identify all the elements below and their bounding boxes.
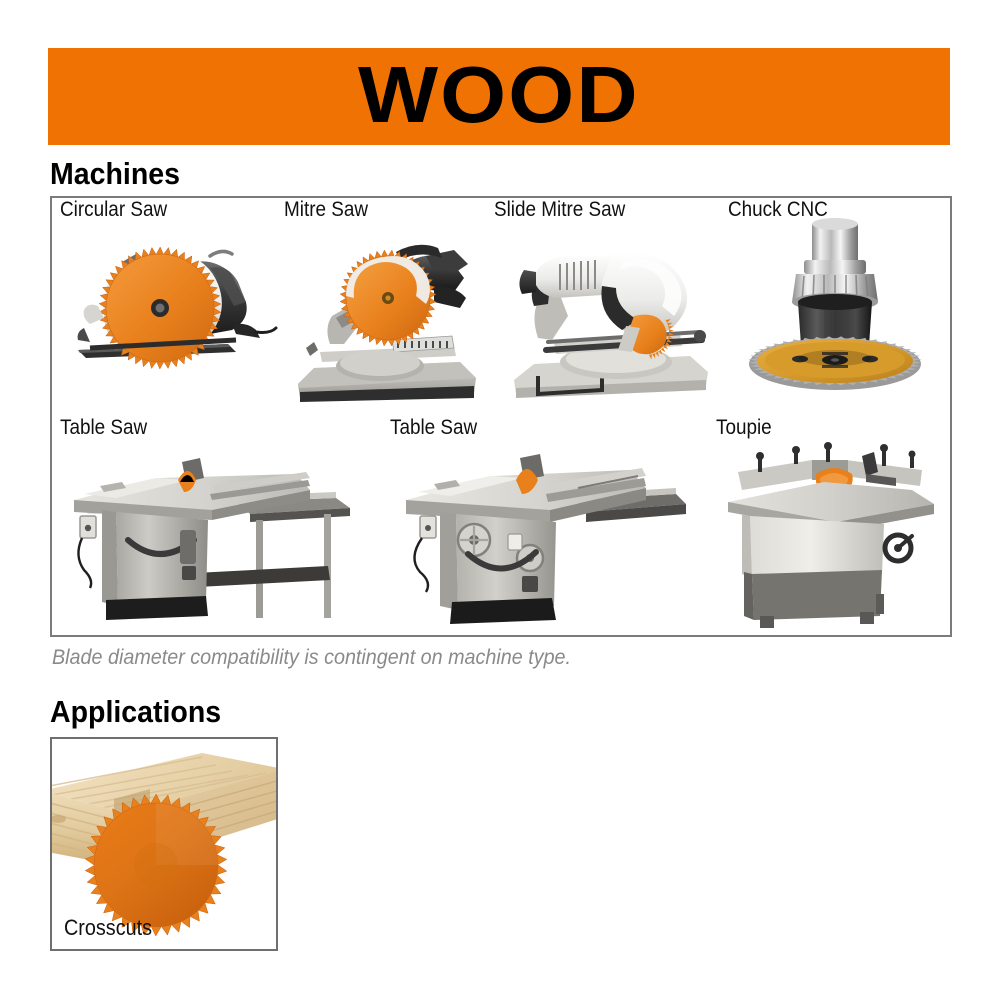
machine-item-mitre-saw[interactable]: Mitre Saw: [284, 198, 492, 416]
table-saw-sliding-icon: [60, 416, 360, 637]
toupie-spindle-moulder-icon: [716, 416, 946, 637]
slide-mitre-saw-icon: [494, 198, 726, 416]
machine-item-table-saw-cabinet[interactable]: Table Saw: [390, 416, 690, 637]
spec-sheet-page: WOOD Machines Circular Saw: [0, 0, 1000, 1000]
machine-item-table-saw-sliding[interactable]: Table Saw: [60, 416, 360, 637]
machines-panel: Circular Saw: [50, 196, 952, 637]
machines-row-1: Circular Saw: [52, 198, 950, 416]
machine-item-toupie[interactable]: Toupie: [716, 416, 946, 637]
table-saw-cabinet-icon: [390, 416, 690, 637]
machines-heading: Machines: [50, 156, 180, 192]
machine-item-slide-mitre-saw[interactable]: Slide Mitre Saw: [494, 198, 726, 416]
applications-heading: Applications: [50, 694, 221, 730]
chuck-cnc-icon: [728, 198, 946, 416]
banner-title: WOOD: [358, 55, 640, 135]
circular-saw-icon: [60, 198, 282, 416]
machine-item-circular-saw[interactable]: Circular Saw: [60, 198, 282, 416]
machine-item-chuck-cnc[interactable]: Chuck CNC: [728, 198, 946, 416]
applications-panel: Crosscuts: [50, 737, 278, 951]
machines-row-2: Table Saw: [52, 416, 950, 637]
application-label: Crosscuts: [64, 915, 152, 941]
machines-caption: Blade diameter compatibility is continge…: [52, 646, 571, 670]
mitre-saw-icon: [284, 198, 492, 416]
wood-banner: WOOD: [48, 48, 950, 145]
